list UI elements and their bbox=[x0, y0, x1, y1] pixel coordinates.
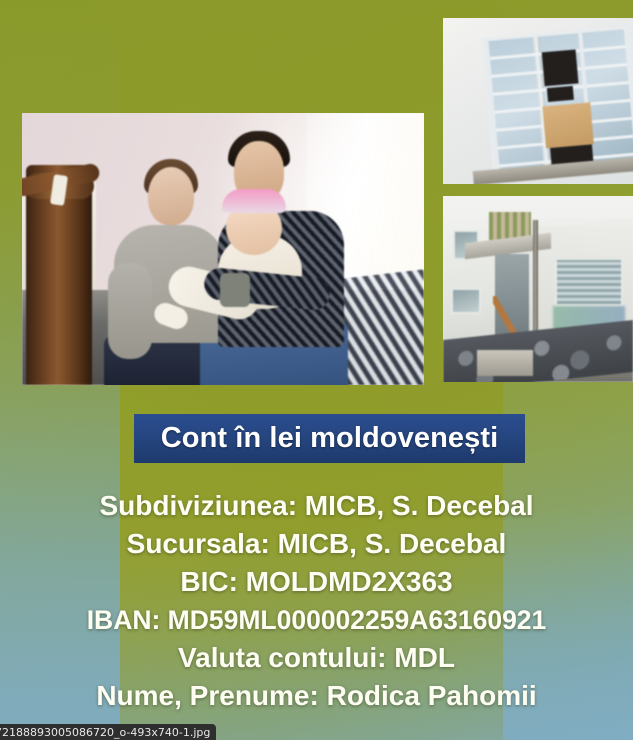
detail-line-iban: IBAN: MD59ML000002259A63160921 bbox=[0, 601, 633, 639]
family-photo bbox=[22, 113, 424, 385]
status-bar-filename: 72188893005086720_o-493x740-1.jpg bbox=[0, 724, 216, 740]
donation-poster: Cont în lei moldovenești Subdiviziunea: … bbox=[0, 0, 633, 740]
detail-line-branch: Sucursala: MICB, S. Decebal bbox=[0, 525, 633, 563]
broken-window-photo bbox=[443, 18, 633, 184]
detail-line-currency: Valuta contului: MDL bbox=[0, 639, 633, 677]
detail-line-subdivision: Subdiviziunea: MICB, S. Decebal bbox=[0, 487, 633, 525]
account-currency-banner: Cont în lei moldovenești bbox=[134, 414, 525, 463]
status-bar-filename-text: 72188893005086720_o-493x740-1.jpg bbox=[0, 726, 210, 739]
bank-details-block: Subdiviziunea: MICB, S. Decebal Sucursal… bbox=[0, 487, 633, 715]
banner-label: Cont în lei moldovenești bbox=[161, 422, 499, 455]
detail-line-bic: BIC: MOLDMD2X363 bbox=[0, 563, 633, 601]
house-exterior-photo bbox=[443, 196, 633, 382]
detail-line-name: Nume, Prenume: Rodica Pahomii bbox=[0, 677, 633, 715]
